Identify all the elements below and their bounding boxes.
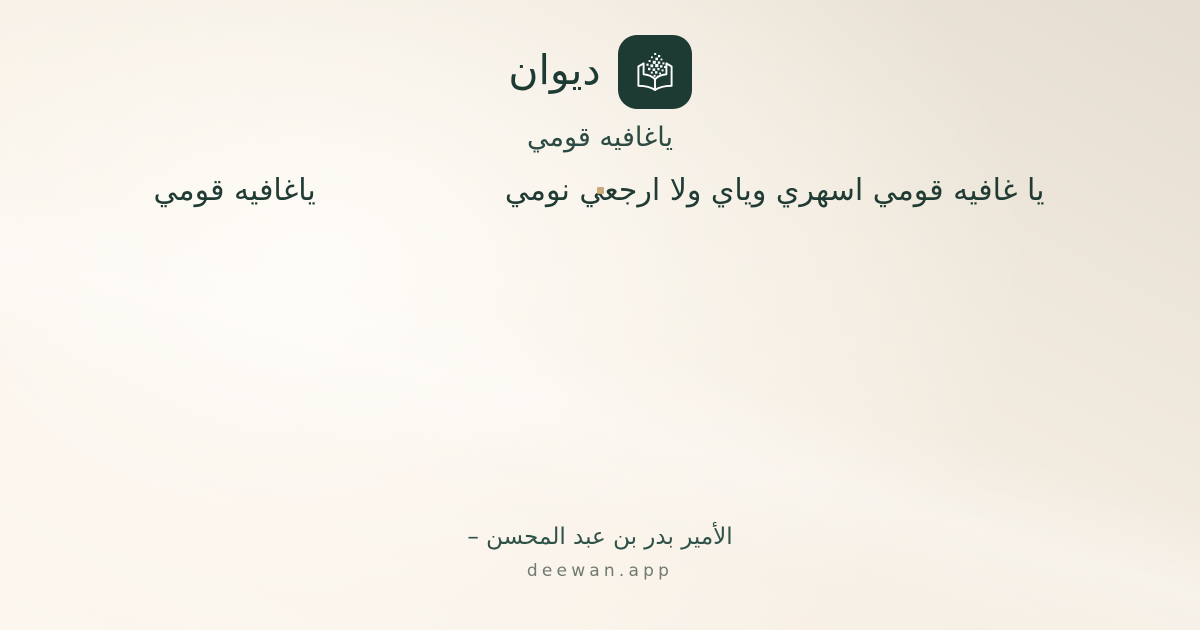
app-logo [618,35,692,109]
card-content: ديوان ياغافيه قومي يا غافيه قومي اسهري و… [0,0,1200,630]
diamond-dot-separator-icon [597,187,604,194]
brand-header: ديوان [0,35,1200,109]
verse-second-hemistich: ياغافيه قومي [134,168,589,213]
verse-first-hemistich: يا غافيه قومي اسهري وياي ولا ارجعي نومي [612,168,1067,213]
poem-title: ياغافيه قومي [0,120,1200,156]
poet-attribution: الأمير بدر بن عبد المحسن – [0,521,1200,553]
verse-line: يا غافيه قومي اسهري وياي ولا ارجعي نومي … [0,168,1200,213]
poem-share-card: ديوان ياغافيه قومي يا غافيه قومي اسهري و… [0,0,1200,630]
brand-name: ديوان [508,50,600,95]
site-url: deewan.app [0,560,1200,584]
open-book-with-sparkles-icon [632,49,678,95]
